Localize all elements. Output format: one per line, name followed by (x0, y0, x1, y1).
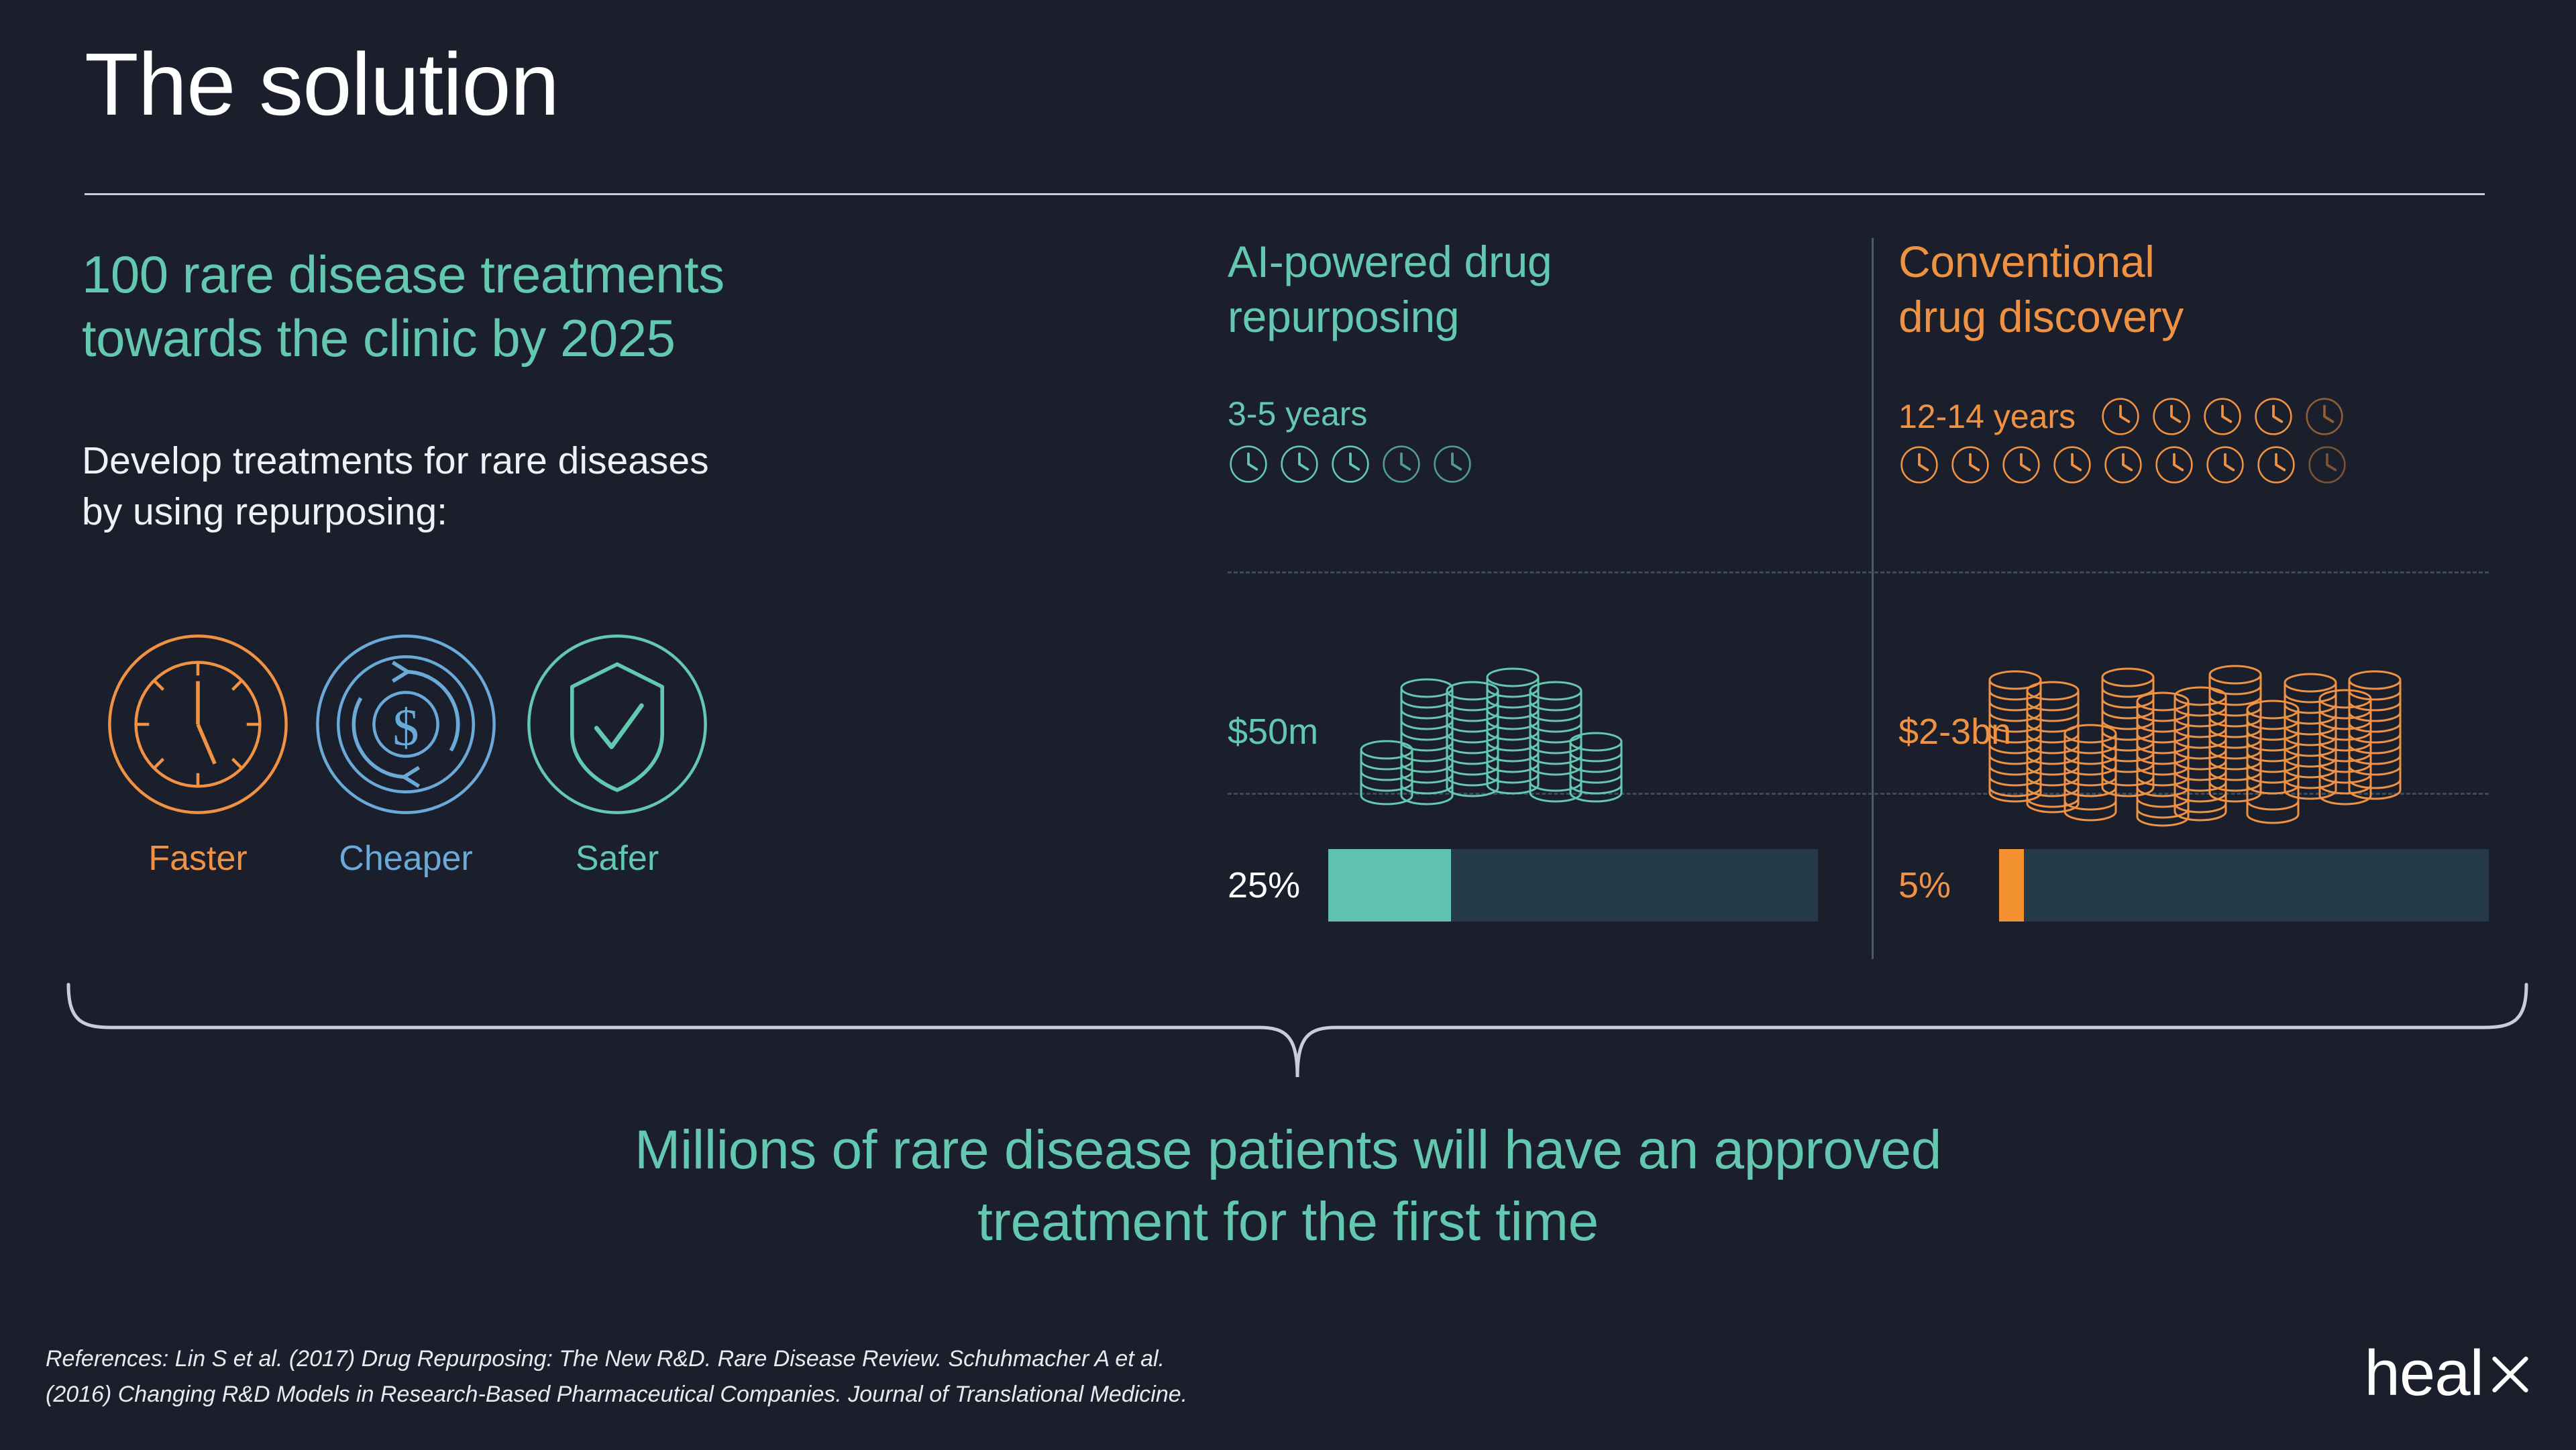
clock-icon (1330, 443, 1371, 485)
benefit-label-cheaper: Cheaper (305, 838, 506, 879)
clock-icon (2204, 444, 2246, 486)
clock-icon (1279, 443, 1320, 485)
clock-icon (1898, 444, 1940, 486)
lead-line-1: 100 rare disease treatments (82, 243, 1088, 306)
column-ai-powered: AI-powered drug repurposing 3-5 years $5… (1228, 235, 1818, 966)
benefit-faster: Faster (97, 630, 299, 879)
benefit-icon-row: Faster $ Cheaper Safer (87, 630, 959, 926)
recycle-dollar-icon: $ (312, 630, 500, 818)
page-title: The solution (85, 40, 559, 129)
clock-icon (1228, 443, 1269, 485)
success-bar-fill-ai (1328, 849, 1451, 922)
clock-row-conventional-1: 12-14 years (1898, 396, 2489, 437)
lead-statement: 100 rare disease treatments towards the … (82, 243, 1088, 370)
clock-icon (2051, 444, 2093, 486)
success-label-ai: 25% (1228, 865, 1328, 906)
benefit-safer: Safer (517, 630, 718, 879)
clock-icon (1381, 443, 1422, 485)
slide-root: The solution 100 rare disease treatments… (0, 0, 2576, 1450)
cost-block-conventional: $2-3bn (1898, 664, 2489, 825)
clock-icon (2304, 396, 2345, 437)
clock-icon (2306, 444, 2348, 486)
lead-line-2: towards the clinic by 2025 (82, 306, 1088, 370)
time-block-ai: 3-5 years (1228, 396, 1818, 485)
comparison-grid: AI-powered drug repurposing 3-5 years $5… (1228, 235, 2489, 966)
cost-block-ai: $50m (1228, 664, 1818, 825)
logo-x-icon (2486, 1347, 2534, 1395)
clock-icon (2255, 444, 2297, 486)
references: References: Lin S et al. (2017) Drug Rep… (46, 1341, 1723, 1412)
references-line-1: References: Lin S et al. (2017) Drug Rep… (46, 1341, 1723, 1377)
column-heading-ai-line1: AI-powered drug (1228, 235, 1818, 290)
success-bar-track-conventional (1999, 849, 2489, 922)
clock-icon (1949, 444, 1991, 486)
clock-row-ai (1228, 443, 1818, 485)
references-line-2: (2016) Changing R&D Models in Research-B… (46, 1377, 1723, 1412)
success-label-conventional: 5% (1898, 865, 1999, 906)
clock-icon (2202, 396, 2243, 437)
column-heading-ai-line2: repurposing (1228, 290, 1818, 345)
benefit-cheaper: $ Cheaper (305, 630, 506, 879)
column-heading-ai: AI-powered drug repurposing (1228, 235, 1818, 345)
svg-text:$: $ (392, 698, 419, 757)
subtext-line-1: Develop treatments for rare diseases (82, 436, 1021, 487)
closing-statement-line2: treatment for the first time (148, 1186, 2428, 1258)
clock-icon (1432, 443, 1473, 485)
column-conventional: Conventional drug discovery 12-14 years (1898, 235, 2489, 966)
closing-statement-line1: Millions of rare disease patients will h… (148, 1115, 2428, 1186)
clock-row-conventional-2 (1898, 444, 2489, 486)
shield-check-icon (523, 630, 711, 818)
lead-subtext: Develop treatments for rare diseases by … (82, 436, 1021, 538)
time-block-conventional: 12-14 years (1898, 396, 2489, 486)
column-heading-conv-line1: Conventional (1898, 235, 2489, 290)
benefit-label-safer: Safer (517, 838, 718, 879)
curly-brace-icon (64, 981, 2530, 1081)
subtext-line-2: by using repurposing: (82, 487, 1021, 538)
time-label-ai: 3-5 years (1228, 396, 1818, 433)
column-heading-conv-line2: drug discovery (1898, 290, 2489, 345)
coin-stack-icon (1986, 664, 2402, 832)
clock-icon (2151, 396, 2192, 437)
clock-icon (2153, 444, 2195, 486)
benefit-label-faster: Faster (97, 838, 299, 879)
cost-label-ai: $50m (1228, 711, 1318, 752)
coin-stack-icon (1352, 664, 1647, 818)
column-heading-conventional: Conventional drug discovery (1898, 235, 2489, 345)
success-bar-track-ai (1328, 849, 1818, 922)
clock-icon (2000, 444, 2042, 486)
time-label-conventional: 12-14 years (1898, 398, 2076, 435)
clock-icon (104, 630, 292, 818)
clock-icon (2102, 444, 2144, 486)
healx-logo: heal (2365, 1341, 2535, 1406)
success-bar-fill-conventional (1999, 849, 2024, 922)
clock-icon (2253, 396, 2294, 437)
closing-statement: Millions of rare disease patients will h… (148, 1115, 2428, 1258)
title-divider (85, 193, 2485, 195)
success-block-conventional: 5% (1898, 845, 2489, 926)
success-block-ai: 25% (1228, 845, 1818, 926)
clock-icon (2100, 396, 2141, 437)
logo-wordmark: heal (2365, 1341, 2484, 1406)
